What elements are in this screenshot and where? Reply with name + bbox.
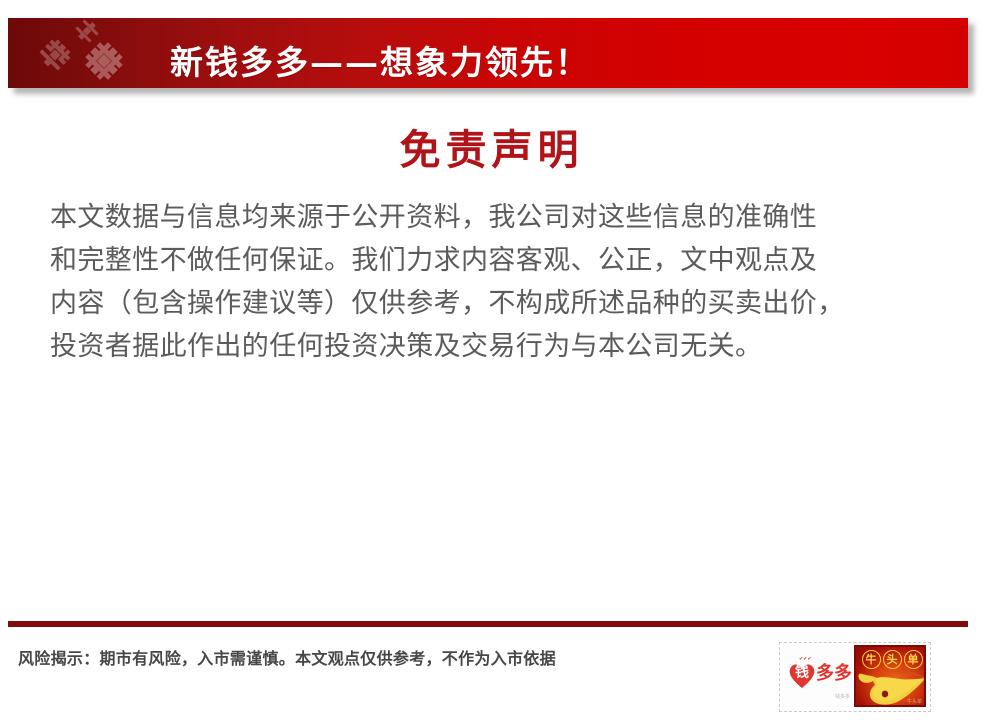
logo-niutoudan[interactable]: 牛 头 单 牛头单: [854, 645, 926, 707]
banner-title: 新钱多多——想象力领先！: [170, 46, 590, 80]
disclaimer-line: 内容（包含操作建议等）仅供参考，不构成所述品种的买卖出价，: [50, 282, 956, 325]
disclaimer-line: 和完整性不做任何保证。我们力求内容客观、公正，文中观点及: [50, 239, 956, 282]
disclaimer-body: 本文数据与信息均来源于公开资料，我公司对这些信息的准确性 和完整性不做任何保证。…: [50, 196, 956, 368]
logo-mini-mark: 钱多多: [835, 694, 850, 700]
heart-tick-mark: ✔✔✔: [799, 657, 812, 662]
knot-ornament-group: [24, 18, 154, 88]
logo-wordmark: 多多: [816, 664, 852, 684]
disclaimer-line: 本文数据与信息均来源于公开资料，我公司对这些信息的准确性: [50, 196, 956, 239]
header-banner: 新钱多多——想象力领先！: [8, 18, 968, 88]
footer-divider: [8, 621, 968, 627]
disclaimer-line: 投资者据此作出的任何投资决策及交易行为与本公司无关。: [50, 325, 956, 368]
logo-mini-mark: 牛头单: [907, 699, 922, 705]
logo-heart-character: 钱: [787, 666, 817, 680]
slide-canvas: 新钱多多——想象力领先！ 免责声明 本文数据与信息均来源于公开资料，我公司对这些…: [0, 0, 983, 720]
logo-qiandaduo[interactable]: ✔✔✔ 钱 多多 钱多多: [782, 645, 854, 707]
logo-group: ✔✔✔ 钱 多多 钱多多 牛 头 单 牛头单: [782, 645, 926, 707]
page-title: 免责声明: [0, 126, 983, 174]
risk-disclosure-note: 风险揭示：期市有风险，入市需谨慎。本文观点仅供参考，不作为入市依据: [18, 648, 556, 670]
